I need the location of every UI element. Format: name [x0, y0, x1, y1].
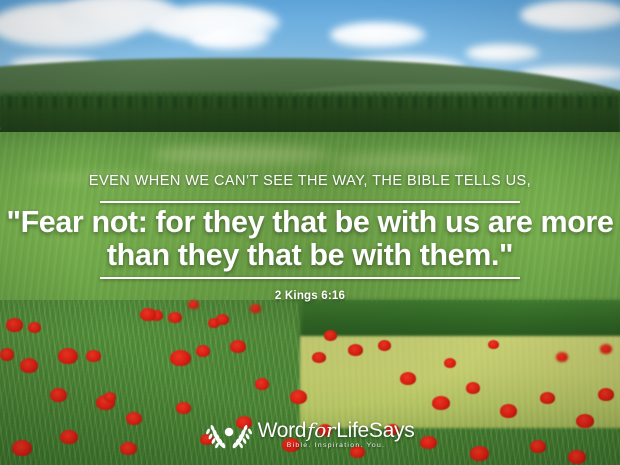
logo-wordmark: WordforLifeSays: [258, 420, 415, 441]
laurel-wreath-icon: [206, 418, 252, 452]
divider-top: [100, 201, 520, 203]
logo-word-2: LifeSays: [336, 419, 414, 442]
intro-text: EVEN WHEN WE CAN’T SEE THE WAY, THE BIBL…: [0, 173, 620, 189]
logo-word-1: Word: [258, 419, 307, 442]
scripture-quote: "Fear not: for they that be with us are …: [0, 206, 620, 272]
logo-tagline: Bible. Inspiration. You.: [287, 443, 385, 450]
logo-word-script: for: [306, 418, 336, 442]
scripture-image-canvas: EVEN WHEN WE CAN’T SEE THE WAY, THE BIBL…: [0, 0, 620, 465]
site-logo[interactable]: WordforLifeSays Bible. Inspiration. You.: [0, 418, 620, 452]
logo-text-block: WordforLifeSays Bible. Inspiration. You.: [258, 420, 415, 450]
quote-line-1: "Fear not: for they that be with us are …: [0, 206, 620, 239]
quote-line-2: than they that be with them.": [0, 239, 620, 272]
divider-bottom: [100, 277, 520, 279]
scripture-reference: 2 Kings 6:16: [0, 290, 620, 302]
text-overlay: EVEN WHEN WE CAN’T SEE THE WAY, THE BIBL…: [0, 0, 620, 465]
